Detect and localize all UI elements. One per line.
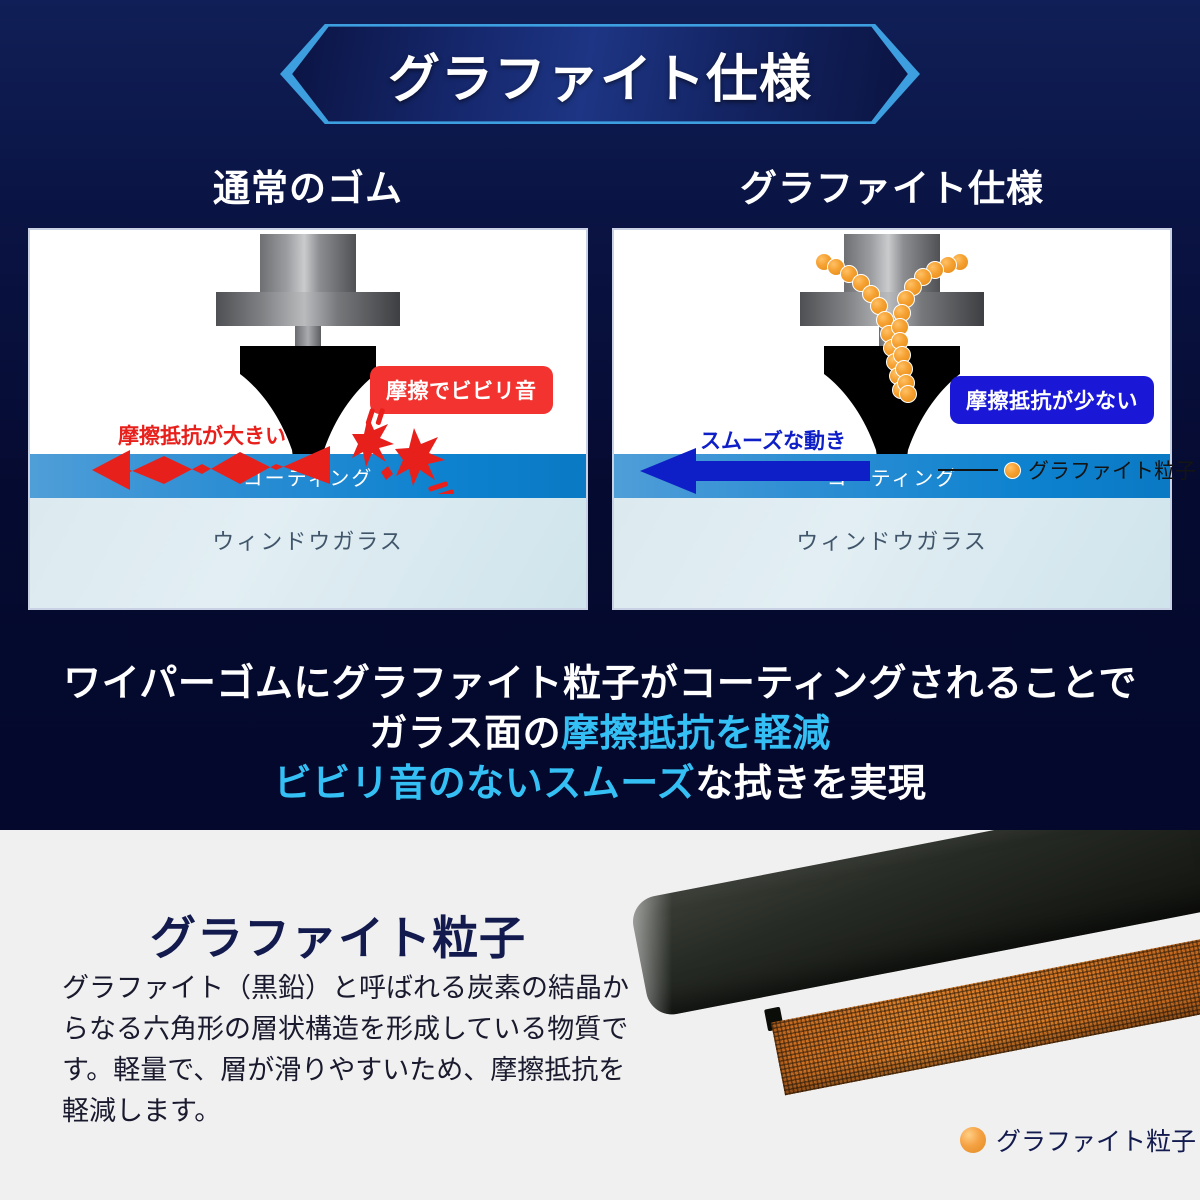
desc2-highlight: 摩擦抵抗を軽減 bbox=[561, 713, 831, 755]
graphite-particle bbox=[899, 385, 917, 403]
bottom-section-heading: グラファイト粒子 bbox=[150, 902, 526, 968]
header-banner: グラファイト仕様 bbox=[280, 24, 920, 124]
bottom-section-body-text: グラファイト（黒鉛）と呼ばれる炭素の結晶からなる六角形の層状構造を形成している物… bbox=[62, 968, 632, 1132]
low-friction-badge: 摩擦抵抗が少ない bbox=[950, 376, 1154, 424]
bottom-light-section: グラファイト粒子 グラファイト（黒鉛）と呼ばれる炭素の結晶からなる六角形の層状構… bbox=[0, 830, 1200, 1200]
right-panel-title: グラファイト仕様 bbox=[612, 158, 1172, 212]
graphite-particle-callout: グラファイト粒子 bbox=[938, 455, 1196, 485]
description-line-3: ビビリ音のないスムーズな拭きを実現 bbox=[0, 752, 1200, 807]
vibration-spark-icon bbox=[352, 408, 462, 494]
wiper-neck bbox=[295, 326, 321, 348]
desc3-highlight-1: ビビリ音 bbox=[274, 763, 428, 805]
banner-title-text: グラファイト仕様 bbox=[280, 24, 920, 124]
glass-label-left: ウィンドウガラス bbox=[212, 524, 404, 556]
desc3-highlight-2: スムーズ bbox=[543, 763, 695, 805]
blue-straight-arrow-icon bbox=[640, 448, 870, 494]
graphite-particle-dot-icon bbox=[1004, 462, 1021, 479]
description-line-1: ワイパーゴムにグラファイト粒子がコーティングされることで bbox=[0, 652, 1200, 707]
desc3-suffix: な拭きを実現 bbox=[695, 763, 926, 805]
left-diagram-panel: コーティング ウィンドウガラス bbox=[28, 228, 588, 610]
wiper-cap bbox=[260, 234, 356, 292]
glass-layer-right: ウィンドウガラス bbox=[614, 498, 1170, 608]
top-dark-section: グラファイト仕様 通常のゴム グラファイト仕様 コーティング ウィンドウガラス bbox=[0, 0, 1200, 830]
left-panel-title: 通常のゴム bbox=[28, 158, 588, 212]
glass-label-right: ウィンドウガラス bbox=[796, 524, 988, 556]
legend-orange-dot-icon bbox=[960, 1127, 986, 1153]
wiper-flange bbox=[216, 292, 400, 326]
glass-layer-left: ウィンドウガラス bbox=[30, 498, 586, 608]
infographic-page: グラファイト仕様 通常のゴム グラファイト仕様 コーティング ウィンドウガラス bbox=[0, 0, 1200, 1200]
friction-noise-badge: 摩擦でビビリ音 bbox=[370, 366, 553, 414]
legend-label: グラファイト粒子 bbox=[996, 1122, 1196, 1158]
desc3-mid: のない bbox=[428, 763, 544, 805]
wiper-blade-product-photo bbox=[600, 840, 1200, 1140]
callout-leader-line bbox=[938, 469, 998, 471]
graphite-particle-legend: グラファイト粒子 bbox=[960, 1122, 1196, 1158]
red-zigzag-arrow-icon bbox=[90, 440, 330, 496]
callout-label: グラファイト粒子 bbox=[1028, 455, 1196, 485]
description-line-2: ガラス面の摩擦抵抗を軽減 bbox=[0, 702, 1200, 757]
desc2-prefix: ガラス面の bbox=[369, 713, 561, 755]
